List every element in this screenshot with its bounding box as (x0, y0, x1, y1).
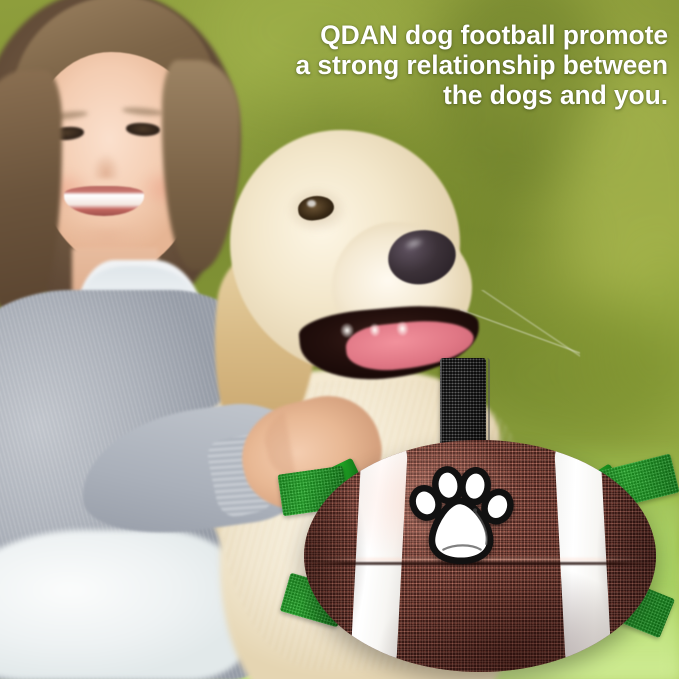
headline-line-3: the dogs and you. (190, 80, 668, 110)
product-image-canvas: QDAN dog football promote a strong relat… (0, 0, 679, 679)
dog-football-toy (278, 352, 679, 679)
headline-line-1: QDAN dog football promote (190, 20, 668, 50)
paw-print-shape (408, 468, 514, 561)
marketing-headline: QDAN dog football promote a strong relat… (190, 20, 668, 110)
headline-line-2: a strong relationship between (190, 50, 668, 80)
paw-print-logo (406, 460, 518, 572)
